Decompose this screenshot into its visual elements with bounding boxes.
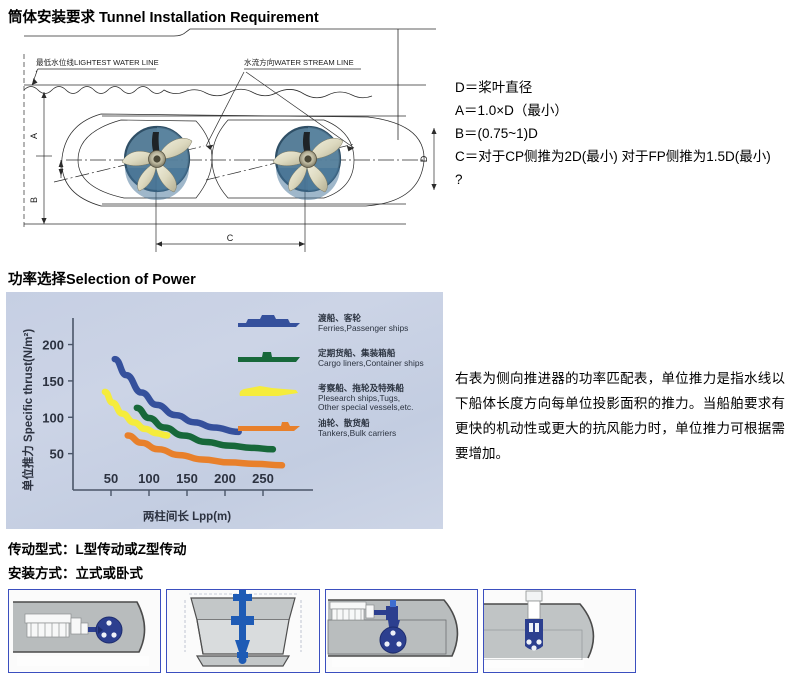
spec-drive-type: 传动型式：L型传动或Z型传动 (8, 538, 187, 558)
thumbnail-engine-with-l-drive-thruster[interactable] (325, 589, 478, 673)
propeller-right (273, 127, 343, 200)
formula-b: B＝(0.75~1)D (455, 122, 785, 145)
y-tick-label: 100 (42, 410, 64, 425)
chart-legend: 渡船、客轮Ferries,Passenger ships定期货船、集装箱船Car… (238, 312, 424, 438)
x-tick-label: 250 (252, 471, 274, 486)
legend-label-cn: 渡船、客轮 (318, 312, 361, 323)
chart-series-line-2 (105, 392, 167, 436)
legend-label-en: Cargo liners,Container ships (318, 358, 424, 368)
legend-entry-2: 考察船、拖轮及特殊船Plesearch ships,Tugs,Other spe… (240, 382, 414, 412)
dimension-label-c: C (227, 233, 234, 243)
y-tick-label: 50 (50, 447, 64, 462)
ship-icon (240, 386, 299, 396)
legend-label-cn: 油轮、散货船 (318, 417, 370, 428)
x-axis-title: 两柱间长 Lpp(m) (143, 509, 231, 523)
thumbnail-vertical-motor-thruster[interactable] (483, 589, 636, 673)
tunnel-formula-list: D＝桨叶直径 A＝1.0×D（最小） B＝(0.75~1)D C＝对于CP侧推为… (455, 76, 785, 191)
x-tick-label: 50 (104, 471, 118, 486)
dimension-label-d: D (419, 155, 429, 162)
chart-axes: 5010015020050100150200250单位推力 Specific t… (21, 318, 313, 523)
propeller-left (122, 127, 192, 200)
thumbnail-vertical-shaft-section[interactable] (166, 589, 319, 673)
chart-curves (105, 359, 282, 465)
y-tick-label: 150 (42, 374, 64, 389)
ship-icon (238, 315, 300, 327)
legend-entry-1: 定期货船、集装箱船Cargo liners,Container ships (238, 347, 424, 368)
legend-entry-3: 油轮、散货船Tankers,Bulk carriers (238, 417, 396, 438)
formula-question: ? (455, 168, 785, 191)
legend-label-en-2: Other special vessels,etc. (318, 402, 413, 412)
tunnel-installation-drawing: A B D C 最低水位线LIGHTEST WATER LINE 水流方向WAT… (6, 28, 446, 258)
water-stream-label: 水流方向WATER STREAM LINE (244, 57, 354, 67)
x-tick-label: 200 (214, 471, 236, 486)
formula-a: A＝1.0×D（最小） (455, 99, 785, 122)
dimension-label-a: A (29, 133, 39, 139)
tunnel-section-title: 筒体安装要求 Tunnel Installation Requirement (8, 6, 319, 27)
y-axis-title: 单位推力 Specific thrust(N/m²) (21, 329, 35, 491)
legend-label-cn: 考察船、拖轮及特殊船 (318, 382, 404, 393)
x-tick-label: 100 (138, 471, 160, 486)
thumbnail-horizontal-engine-l-drive[interactable] (8, 589, 161, 673)
dimension-label-b: B (29, 197, 39, 203)
spec-mounting-type: 安装方式：立式或卧式 (8, 562, 143, 582)
specific-thrust-chart: 5010015020050100150200250单位推力 Specific t… (6, 292, 443, 529)
y-tick-label: 200 (42, 338, 64, 353)
legend-label-en: Tankers,Bulk carriers (318, 428, 396, 438)
formula-d: D＝桨叶直径 (455, 76, 785, 99)
ship-icon (238, 352, 300, 362)
power-description-paragraph: 右表为侧向推进器的功率匹配表，单位推力是指水线以下船体长度方向每单位投影面积的推… (455, 366, 785, 466)
formula-c: C＝对于CP侧推为2D(最小) 对于FP侧推为1.5D(最小) (455, 145, 785, 168)
legend-entry-0: 渡船、客轮Ferries,Passenger ships (238, 312, 408, 333)
ship-icon (238, 422, 300, 431)
installation-thumbnail-strip (8, 589, 636, 673)
legend-label-cn: 定期货船、集装箱船 (318, 347, 396, 358)
legend-label-en: Ferries,Passenger ships (318, 323, 408, 333)
x-tick-label: 150 (176, 471, 198, 486)
power-section-title: 功率选择Selection of Power (8, 268, 196, 289)
waterline-label: 最低水位线LIGHTEST WATER LINE (36, 57, 159, 67)
